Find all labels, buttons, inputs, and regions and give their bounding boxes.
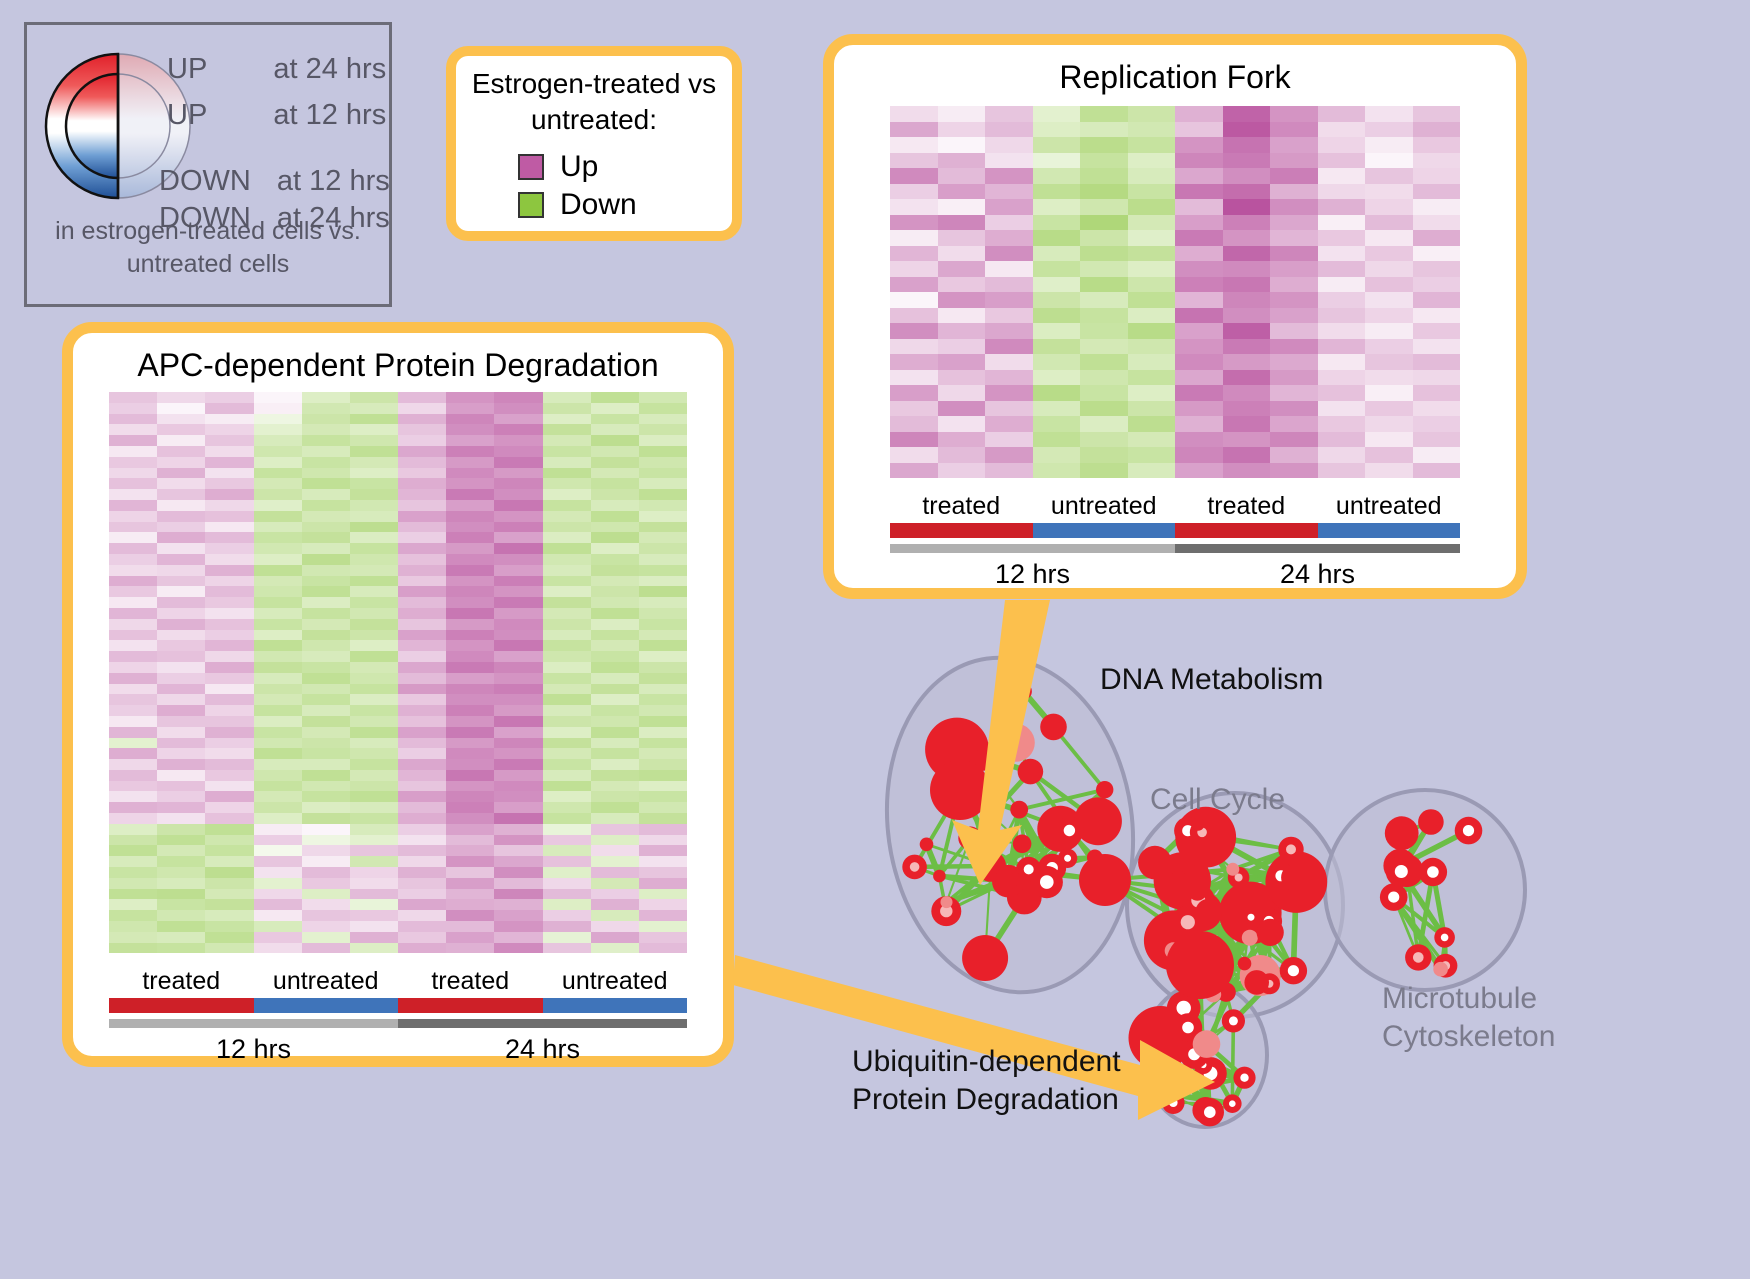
axis-group-label: untreated — [1033, 492, 1176, 521]
key-label-up-12: UP — [167, 99, 207, 132]
network-label-microtubule-cytoskeleton: Microtubule Cytoskeleton — [1382, 980, 1555, 1056]
network-label-ubiquitin-degradation: Ubiquitin-dependent Protein Degradation — [852, 1043, 1121, 1119]
heatmap-grid — [890, 106, 1460, 478]
axis-time-label: 24 hrs — [1175, 559, 1460, 590]
legend-label-down: Down — [560, 188, 637, 222]
heatmap-replication-fork — [890, 106, 1460, 478]
axis-time-color — [890, 544, 1175, 553]
heatmap-apc-degradation — [109, 392, 687, 953]
axis-apc-degradation: treateduntreatedtreateduntreated 12 hrs2… — [109, 967, 687, 1065]
axis-group-labels: treateduntreatedtreateduntreated — [890, 492, 1460, 521]
axis-group-colorbar — [109, 998, 687, 1013]
axis-group-label: untreated — [1318, 492, 1461, 521]
axis-group-label: treated — [398, 967, 543, 996]
legend-card: Estrogen-treated vs untreated: Up Down — [446, 46, 742, 241]
color-key-box: UP at 24 hrs UP at 12 hrs DOWN at 12 hrs… — [24, 22, 392, 307]
legend-item-up: Up — [518, 150, 598, 184]
axis-time-colorbar — [109, 1019, 687, 1028]
panel-replication-fork: Replication Fork treateduntreatedtreated… — [823, 34, 1527, 599]
axis-time-color — [1175, 544, 1460, 553]
axis-time-labels: 12 hrs24 hrs — [109, 1028, 687, 1065]
key-label-down-12: DOWN — [159, 165, 251, 198]
axis-group-label: treated — [109, 967, 254, 996]
axis-group-color — [890, 523, 1033, 538]
key-row-down-12: DOWN at 12 hrs — [159, 165, 390, 198]
axis-group-color — [1318, 523, 1461, 538]
legend-label-up: Up — [560, 150, 598, 184]
heatmap-grid — [109, 392, 687, 953]
key-row-up-12: UP at 12 hrs — [167, 99, 386, 132]
network-label-cell-cycle: Cell Cycle — [1150, 783, 1285, 817]
axis-group-color — [254, 998, 399, 1013]
axis-group-color — [1175, 523, 1318, 538]
axis-time-label: 12 hrs — [109, 1034, 398, 1065]
axis-group-labels: treateduntreatedtreateduntreated — [109, 967, 687, 996]
panel-apc-degradation: APC-dependent Protein Degradation treate… — [62, 322, 734, 1067]
axis-group-color — [398, 998, 543, 1013]
axis-group-colorbar — [890, 523, 1460, 538]
axis-time-labels: 12 hrs24 hrs — [890, 553, 1460, 590]
network-label-dna-metabolism: DNA Metabolism — [1100, 663, 1323, 697]
color-key-caption: in estrogen-treated cells vs. untreated … — [27, 215, 389, 281]
axis-time-color — [109, 1019, 398, 1028]
axis-group-color — [109, 998, 254, 1013]
axis-group-color — [1033, 523, 1176, 538]
key-time-up-24: at 24 hrs — [273, 53, 386, 86]
axis-group-label: treated — [1175, 492, 1318, 521]
axis-group-label: untreated — [543, 967, 688, 996]
axis-time-colorbar — [890, 544, 1460, 553]
axis-time-color — [398, 1019, 687, 1028]
axis-group-color — [543, 998, 688, 1013]
panel-title-apc-degradation: APC-dependent Protein Degradation — [73, 347, 723, 384]
axis-time-label: 12 hrs — [890, 559, 1175, 590]
legend-swatch-down — [518, 192, 544, 218]
legend-item-down: Down — [518, 188, 637, 222]
key-time-up-12: at 12 hrs — [273, 99, 386, 132]
legend-swatch-up — [518, 154, 544, 180]
key-time-down-12: at 12 hrs — [277, 165, 390, 198]
axis-replication-fork: treateduntreatedtreateduntreated 12 hrs2… — [890, 492, 1460, 590]
key-row-up-24: UP at 24 hrs — [167, 53, 386, 86]
key-label-up-24: UP — [167, 53, 207, 86]
axis-group-label: treated — [890, 492, 1033, 521]
axis-time-label: 24 hrs — [398, 1034, 687, 1065]
legend-title: Estrogen-treated vs untreated: — [456, 66, 732, 138]
panel-title-replication-fork: Replication Fork — [834, 59, 1516, 96]
axis-group-label: untreated — [254, 967, 399, 996]
